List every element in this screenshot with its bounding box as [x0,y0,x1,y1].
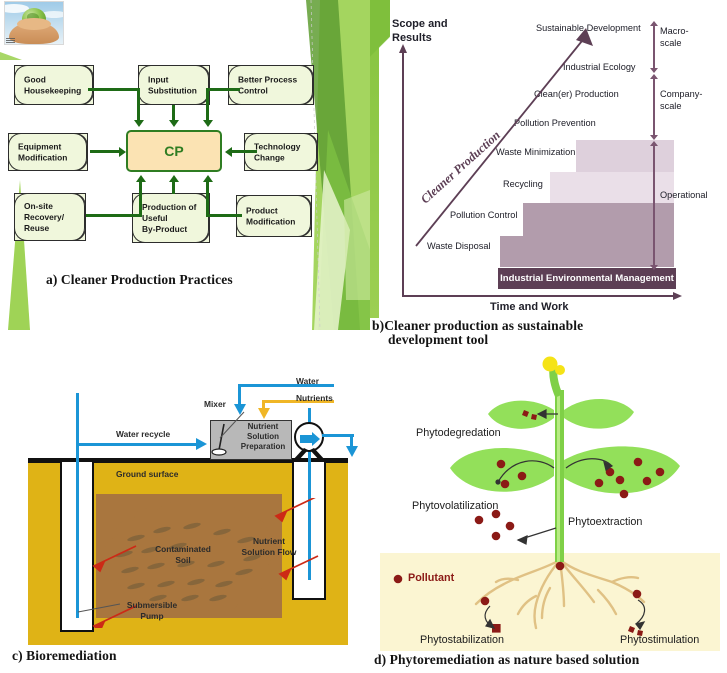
arrow-technology-change [231,150,257,153]
arrowhead-up [169,175,179,182]
arrowhead-left [225,147,232,157]
arrow-good-housekeeping-h [88,88,140,91]
label-mixer: Mixer [204,399,226,410]
arrow-equipment-modification [90,150,120,153]
x-axis-title: Time and Work [490,301,568,313]
arrowhead-up [136,175,146,182]
y-axis-line [402,52,404,297]
cp-center-box: CP [126,130,222,172]
practice-box-onsite-recovery-reuse: On-site Recovery/ Reuse [14,193,86,241]
practice-box-label: Input Substitution [148,74,212,96]
arrow-product-modification-h [206,214,242,217]
label-ground-surface: Ground surface [116,469,178,480]
practice-box-good-housekeeping: Good Housekeeping [14,65,94,105]
practice-box-label: Technology Change [254,141,318,163]
bracket-label-company-scale: Company- scale [660,89,702,113]
foundation-bar-industrial-environmental-management: Industrial Environmental Management [498,268,676,289]
water-recycle-pipe-h [76,443,198,446]
label-water: Water [296,376,319,387]
arrow-input-substitution-v [172,105,175,121]
panel-b-caption-line2: development tool [388,332,488,348]
arrow-good-housekeeping-v [137,88,140,121]
green-sidebar-decoration-2 [370,0,390,120]
hands-shape [9,22,59,44]
label-contaminated-soil: Contaminated Soil [143,544,223,565]
mixer-callout-line [214,410,248,442]
legend-label-pollutant: Pollutant [408,572,454,584]
arrowhead-water-recycle [196,438,207,450]
x-axis-arrowhead [673,292,682,300]
panel-d-phytoremediation: Phytodegredation Phytovolatilization Phy… [372,348,727,673]
arrow-byproduct-v [172,182,175,194]
x-axis-line [402,295,674,297]
arrowhead-right [119,147,126,157]
arrow-better-process-control-h [206,88,240,91]
practice-box-label: Production of Useful By-Product [142,202,210,234]
bracket-company-scale [653,79,655,135]
bracket-label-macro-scale: Macro- scale [660,26,689,50]
panel-c-caption: c) Bioremediation [12,648,117,664]
cp-label: CP [164,143,183,159]
bracket-label-operational: Operational [660,190,708,200]
panel-d-caption: d) Phytoremediation as nature based solu… [374,652,639,668]
pump-legs [290,448,330,462]
practice-box-product-modification: Product Modification [236,195,312,237]
cleaner-production-diagonal-arrow [410,22,600,252]
arrowhead-nutrient-inlet [258,408,270,419]
label-phytostabilization: Phytostabilization [420,634,504,646]
practice-box-label: Product Modification [246,205,314,227]
bracket-macro-scale [653,26,655,68]
panel-b-cleaner-production-chart: Scope and Results Time and Work Industri… [370,0,727,348]
arrow-product-modification-v [206,182,209,217]
practice-box-better-process-control: Better Process Control [228,65,314,105]
arrowhead-down [169,120,179,127]
arrow-onsite-recovery-v [139,182,142,217]
pump-arrow-icon [300,432,322,446]
panel-a-cleaner-production-practices: Good Housekeeping Input Substitution Bet… [0,0,370,330]
foundation-bar-label: Industrial Environmental Management [500,273,674,284]
water-inlet-pipe-h [238,384,334,387]
practice-box-production-of-useful-byproduct: Production of Useful By-Product [132,193,210,243]
label-nutrients: Nutrients [296,393,333,404]
practice-box-equipment-modification: Equipment Modification [8,133,88,171]
leaf-top-right [564,399,634,429]
practice-box-label: Better Process Control [238,74,310,96]
label-submersible-pump: Submersible Pump [116,600,188,621]
hands-holding-globe-image [4,1,64,45]
practice-box-label: Equipment Modification [18,141,88,163]
label-phytodegredation: Phytodegredation [416,427,501,439]
label-phytovolatilization: Phytovolatilization [412,500,498,512]
practice-box-label: On-site Recovery/ Reuse [24,201,82,233]
bracket-operational [653,146,655,265]
label-nutrient-solution-flow: Nutrient Solution Flow [232,536,306,557]
arrowhead-down [134,120,144,127]
legend-bullet-pollutant [394,575,403,584]
label-phytoextraction: Phytoextraction [568,516,642,528]
arrowhead-down [203,120,213,127]
arrowhead-pump-outlet [346,446,358,457]
label-water-recycle: Water recycle [116,429,170,440]
image-watermark [6,38,15,43]
arrowhead-up [203,175,213,182]
arrow-better-process-control-v [206,88,209,121]
panel-c-bioremediation: Nutrient Solution Preparation Wat [0,348,372,673]
water-inlet-pipe-v [238,384,241,406]
practice-box-input-substitution: Input Substitution [138,65,210,105]
practice-box-label: Good Housekeeping [24,74,88,96]
arrow-onsite-recovery-h [86,214,142,217]
panel-a-caption: a) Cleaner Production Practices [46,272,233,288]
label-phytostimulation: Phytostimulation [620,634,699,646]
